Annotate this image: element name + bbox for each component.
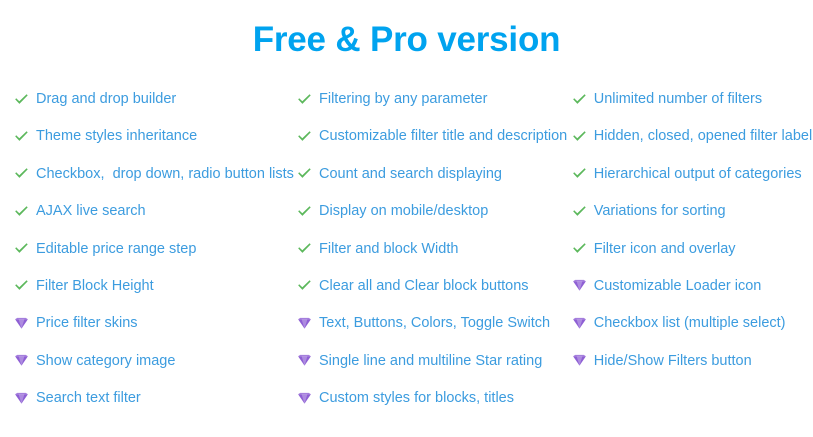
feature-item: Search text filter <box>14 387 291 424</box>
feature-item-label: Variations for sorting <box>592 200 726 221</box>
check-icon-glyph <box>14 279 29 292</box>
feature-item: Checkbox, drop down, radio button lists <box>14 163 291 200</box>
feature-item: AJAX live search <box>14 200 291 237</box>
check-icon-glyph <box>14 93 29 106</box>
feature-item-label: Single line and multiline Star rating <box>317 350 542 371</box>
feature-item-label: Count and search displaying <box>317 163 502 184</box>
feature-item-label: Filter and block Width <box>317 238 458 259</box>
feature-item: Count and search displaying <box>297 163 568 200</box>
feature-item: Unlimited number of filters <box>572 88 813 125</box>
gem-icon <box>297 312 317 333</box>
feature-item-label: Hierarchical output of categories <box>592 163 802 184</box>
gem-icon <box>572 350 592 371</box>
check-icon-glyph <box>297 242 312 255</box>
check-icon-glyph <box>572 242 587 255</box>
feature-item: Display on mobile/desktop <box>297 200 568 237</box>
check-icon-glyph <box>14 205 29 218</box>
check-icon <box>14 238 34 259</box>
feature-item-label: Drag and drop builder <box>34 88 176 109</box>
check-icon-glyph <box>572 167 587 180</box>
feature-item: Custom styles for blocks, titles <box>297 387 568 424</box>
check-icon-glyph <box>14 167 29 180</box>
feature-item: Single line and multiline Star rating <box>297 350 568 387</box>
feature-item-label: Search text filter <box>34 387 141 408</box>
check-icon <box>297 163 317 184</box>
feature-item: Show category image <box>14 350 291 387</box>
check-icon-glyph <box>297 279 312 292</box>
feature-item-label: Filter Block Height <box>34 275 154 296</box>
feature-item: Filtering by any parameter <box>297 88 568 125</box>
feature-item: Price filter skins <box>14 312 291 349</box>
check-icon-glyph <box>572 205 587 218</box>
feature-item-label: Filter icon and overlay <box>592 238 736 259</box>
feature-item: Theme styles inheritance <box>14 125 291 162</box>
gem-icon <box>14 350 34 371</box>
check-icon <box>572 125 592 146</box>
feature-item: Drag and drop builder <box>14 88 291 125</box>
check-icon <box>572 88 592 109</box>
check-icon-glyph <box>297 167 312 180</box>
check-icon <box>14 125 34 146</box>
check-icon-glyph <box>297 130 312 143</box>
gem-icon-glyph <box>572 279 587 292</box>
check-icon <box>297 275 317 296</box>
check-icon-glyph <box>572 130 587 143</box>
feature-item-label: Text, Buttons, Colors, Toggle Switch <box>317 312 550 333</box>
feature-item-label: AJAX live search <box>34 200 146 221</box>
feature-columns: Drag and drop builderTheme styles inheri… <box>0 88 813 433</box>
column-3: Unlimited number of filtersHidden, close… <box>568 88 813 387</box>
check-icon <box>297 88 317 109</box>
feature-item: Filter icon and overlay <box>572 238 813 275</box>
check-icon <box>572 238 592 259</box>
check-icon <box>297 125 317 146</box>
gem-icon-glyph <box>297 317 312 330</box>
feature-item: Hide/Show Filters button <box>572 350 813 387</box>
feature-item-label: Custom styles for blocks, titles <box>317 387 514 408</box>
gem-icon-glyph <box>572 354 587 367</box>
feature-item-label: Filtering by any parameter <box>317 88 487 109</box>
gem-icon-glyph <box>297 354 312 367</box>
check-icon-glyph <box>297 93 312 106</box>
feature-item-label: Hide/Show Filters button <box>592 350 752 371</box>
gem-icon <box>297 387 317 408</box>
check-icon-glyph <box>14 130 29 143</box>
check-icon-glyph <box>572 93 587 106</box>
feature-item-label: Checkbox, drop down, radio button lists <box>34 163 294 184</box>
gem-icon-glyph <box>14 317 29 330</box>
gem-icon <box>14 312 34 333</box>
column-2: Filtering by any parameterCustomizable f… <box>291 88 568 425</box>
feature-item: Clear all and Clear block buttons <box>297 275 568 312</box>
column-1: Drag and drop builderTheme styles inheri… <box>0 88 291 425</box>
check-icon <box>572 200 592 221</box>
check-icon <box>14 200 34 221</box>
feature-item-label: Customizable filter title and descriptio… <box>317 125 567 146</box>
gem-icon-glyph <box>14 354 29 367</box>
feature-item-label: Price filter skins <box>34 312 138 333</box>
gem-icon-glyph <box>14 392 29 405</box>
feature-item: Text, Buttons, Colors, Toggle Switch <box>297 312 568 349</box>
check-icon <box>14 163 34 184</box>
gem-icon <box>572 312 592 333</box>
check-icon <box>297 238 317 259</box>
feature-item-label: Theme styles inheritance <box>34 125 197 146</box>
feature-item-label: Unlimited number of filters <box>592 88 762 109</box>
feature-item: Customizable filter title and descriptio… <box>297 125 568 162</box>
gem-icon <box>14 387 34 408</box>
feature-item-label: Clear all and Clear block buttons <box>317 275 529 296</box>
gem-icon-glyph <box>297 392 312 405</box>
check-icon <box>14 275 34 296</box>
feature-item: Customizable Loader icon <box>572 275 813 312</box>
check-icon-glyph <box>297 205 312 218</box>
gem-icon <box>572 275 592 296</box>
page-title: Free & Pro version <box>0 18 813 62</box>
feature-item: Filter and block Width <box>297 238 568 275</box>
feature-item-label: Show category image <box>34 350 175 371</box>
feature-item: Hierarchical output of categories <box>572 163 813 200</box>
feature-item: Checkbox list (multiple select) <box>572 312 813 349</box>
feature-item-label: Customizable Loader icon <box>592 275 762 296</box>
feature-item: Variations for sorting <box>572 200 813 237</box>
feature-item-label: Editable price range step <box>34 238 196 259</box>
feature-item-label: Display on mobile/desktop <box>317 200 488 221</box>
check-icon <box>14 88 34 109</box>
check-icon <box>572 163 592 184</box>
gem-icon-glyph <box>572 317 587 330</box>
feature-item: Filter Block Height <box>14 275 291 312</box>
feature-item: Editable price range step <box>14 238 291 275</box>
feature-item: Hidden, closed, opened filter label <box>572 125 813 162</box>
feature-item-label: Checkbox list (multiple select) <box>592 312 786 333</box>
check-icon <box>297 200 317 221</box>
gem-icon <box>297 350 317 371</box>
feature-item-label: Hidden, closed, opened filter label <box>592 125 812 146</box>
check-icon-glyph <box>14 242 29 255</box>
